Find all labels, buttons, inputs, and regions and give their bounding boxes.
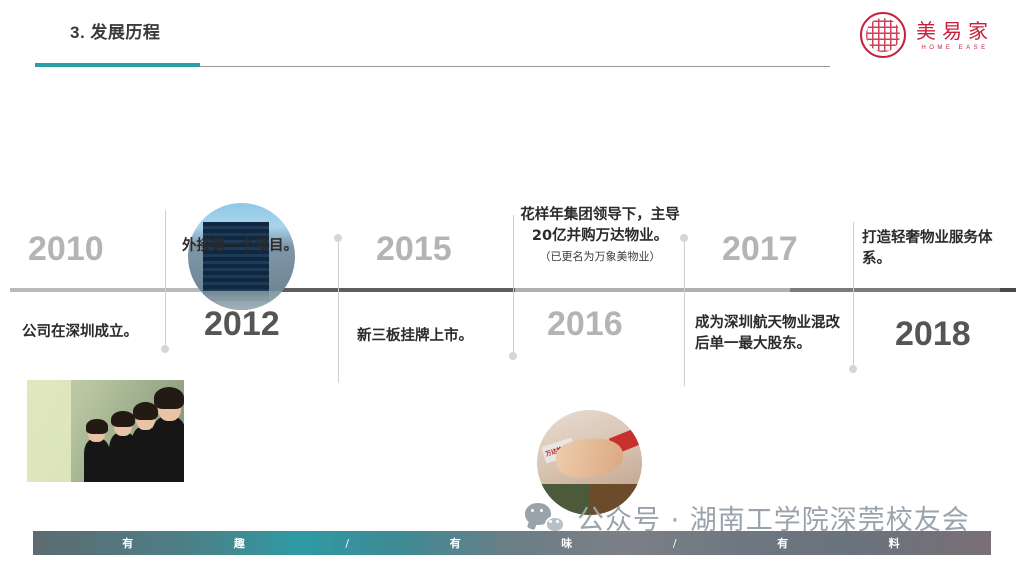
timeline-desc-2016-sub: （已更名为万象美物业）: [516, 249, 684, 265]
timeline-desc-2012: 外接第一个项目。: [182, 236, 347, 257]
connector-dot-3: [509, 352, 517, 360]
timeline-desc-2010: 公司在深圳成立。: [22, 322, 192, 343]
timeline-year-2016: 2016: [547, 305, 623, 344]
slogan-char-3: 有: [450, 535, 463, 551]
connector-dot-5: [849, 365, 857, 373]
slogan-sep-1: /: [345, 537, 351, 550]
slogan-char-4: 味: [561, 535, 574, 551]
title-accent-bar: [35, 63, 200, 67]
timeline-year-2015: 2015: [376, 230, 452, 269]
timeline-year-2010: 2010: [28, 230, 104, 269]
slide-root: 3. 发展历程 美易家 HOME EASE 2010 公司在深圳成立。: [0, 0, 1024, 563]
slogan-char-5: 有: [777, 535, 790, 551]
timeline-desc-2018: 打造轻奢物业服务体系。: [862, 228, 1002, 270]
timeline-desc-2017: 成为深圳航天物业混改后单一最大股东。: [695, 313, 847, 355]
circular-seal-icon: [860, 12, 906, 58]
timeline-year-2012: 2012: [204, 305, 280, 344]
timeline-desc-2016-main: 花样年集团领导下，主导20亿并购万达物业。: [520, 207, 680, 244]
connector-line-5: [853, 222, 854, 370]
connector-line-2: [338, 238, 339, 383]
slogan-char-1: 有: [122, 535, 135, 551]
brand-logo: 美易家 HOME EASE: [860, 12, 994, 58]
staff-row-photo: [27, 380, 184, 482]
timeline-year-2017: 2017: [722, 230, 798, 269]
slogan-char-6: 料: [889, 535, 902, 551]
bottom-slogan-bar: 有 趣 / 有 味 / 有 料: [33, 531, 991, 555]
page-title: 3. 发展历程: [70, 18, 160, 43]
timeline-desc-2015: 新三板挂牌上市。: [357, 326, 527, 347]
logo-name-en: HOME EASE: [921, 45, 988, 51]
timeline-year-2018: 2018: [895, 315, 971, 354]
wechat-icon: [525, 503, 565, 533]
timeline-desc-2016: 花样年集团领导下，主导20亿并购万达物业。 （已更名为万象美物业）: [516, 205, 684, 265]
connector-line-4: [684, 238, 685, 386]
connector-dot-1: [161, 345, 169, 353]
slogan-char-2: 趣: [234, 535, 247, 551]
slogan-sep-2: /: [673, 537, 679, 550]
logo-name-cn: 美易家: [916, 20, 994, 42]
